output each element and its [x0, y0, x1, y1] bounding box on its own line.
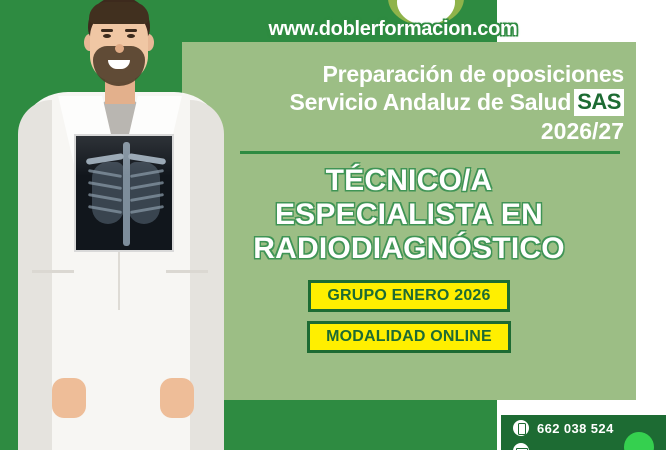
eyebrow-left — [101, 29, 113, 32]
eye-left — [103, 34, 111, 38]
sas-badge: SAS — [574, 89, 624, 116]
contact-phone-number: 662 038 524 — [537, 421, 614, 436]
hand-right — [160, 378, 194, 418]
title-line-3: RADIODIAGNÓSTICO — [202, 232, 616, 266]
nose — [115, 44, 124, 53]
mail-icon — [513, 443, 529, 450]
eyebrow-right — [125, 29, 137, 32]
coat-pocket-left — [32, 270, 74, 273]
lab-coat-shadow-right — [190, 100, 224, 450]
coat-pocket-right — [166, 270, 208, 273]
promotional-poster: www.doblerformacion.com Preparación de o… — [0, 0, 666, 450]
hair-fringe — [89, 2, 149, 24]
lab-coat-shadow-left — [18, 100, 52, 450]
header-line-2-row: Servicio Andaluz de SaludSAS — [242, 88, 624, 116]
content-panel: Preparación de oposiciones Servicio Anda… — [182, 42, 636, 400]
header-block: Preparación de oposiciones Servicio Anda… — [242, 60, 624, 145]
chest-xray-image — [74, 134, 174, 252]
divider-rule — [240, 151, 620, 154]
avatar — [0, 0, 230, 450]
badge-modalidad-online: MODALIDAD ONLINE — [307, 321, 511, 353]
page-title: TÉCNICO/A ESPECIALISTA EN RADIODIAGNÓSTI… — [202, 164, 616, 266]
badge-grupo-enero: GRUPO ENERO 2026 — [308, 280, 509, 312]
title-line-2: ESPECIALISTA EN — [202, 198, 616, 232]
phone-icon — [513, 420, 529, 436]
header-line-1: Preparación de oposiciones — [242, 60, 624, 88]
eye-right — [127, 34, 135, 38]
contact-box[interactable]: 662 038 524 — [498, 412, 666, 450]
header-year: 2026/27 — [242, 118, 624, 145]
hand-left — [52, 378, 86, 418]
xray-glow — [76, 136, 174, 176]
header-line-2: Servicio Andaluz de Salud — [290, 88, 572, 116]
title-line-1: TÉCNICO/A — [202, 164, 616, 198]
badge-list: GRUPO ENERO 2026 MODALIDAD ONLINE — [202, 280, 616, 353]
